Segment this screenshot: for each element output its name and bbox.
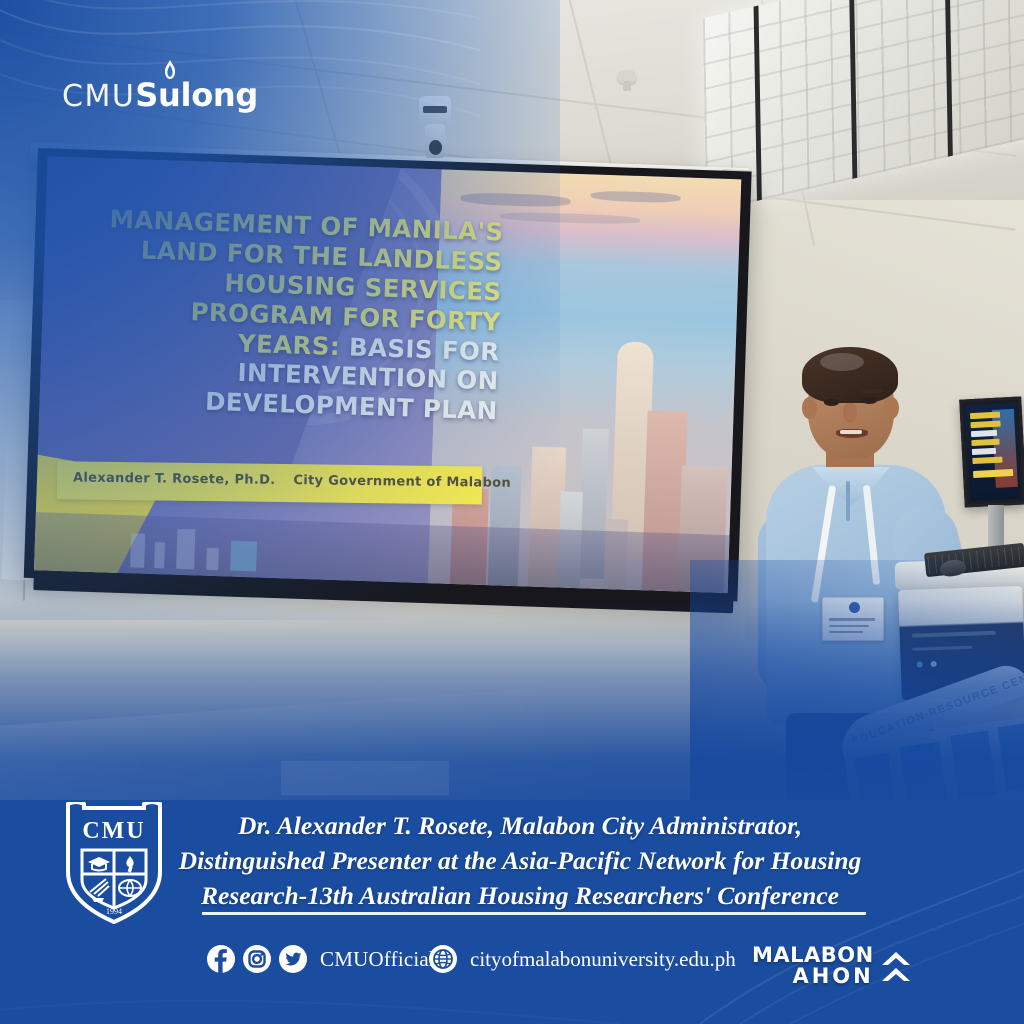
caption-line-3: Research-13th Australian Housing Researc… <box>160 878 880 913</box>
twitter-icon[interactable] <box>278 944 308 974</box>
event-photograph: MANAGEMENT OF MANILA'S LAND FOR THE LAND… <box>0 0 1024 800</box>
globe-icon[interactable] <box>428 944 458 974</box>
globe-icon <box>119 880 141 896</box>
caption-line-2: Distinguished Presenter at the Asia-Paci… <box>160 843 880 878</box>
decorative-rectangle <box>281 761 449 795</box>
double-chevron-up-icon <box>882 952 910 981</box>
cmu-sulong-logo: CMU Sulong <box>62 76 258 118</box>
slide-title: MANAGEMENT OF MANILA'S LAND FOR THE LAND… <box>67 203 504 426</box>
caption-divider <box>202 912 866 915</box>
shield-year: 1994 <box>106 907 122 916</box>
social-media-group[interactable]: CMUOfficial <box>206 944 435 974</box>
malabon-ahon-logo: MALABON AHON <box>752 940 912 992</box>
slide-presenter-name: Alexander T. Rosete, Ph.D. <box>73 470 276 487</box>
website-url: cityofmalabonuniversity.edu.ph <box>470 947 736 972</box>
id-badge <box>822 597 884 641</box>
zipper <box>846 481 850 521</box>
slide-title-years: YEARS: <box>237 328 340 360</box>
shield-monogram: CMU <box>82 818 145 844</box>
malabon-line-2: AHON <box>752 966 874 987</box>
slide-presenter-org: City Government of Malabon <box>293 473 511 491</box>
cmu-shield-logo: CMU 1994 <box>58 802 170 924</box>
slide-title-basis: BASIS FOR <box>340 332 500 366</box>
flame-icon <box>162 60 178 82</box>
social-handle: CMUOfficial <box>320 947 435 972</box>
torch-icon <box>126 856 133 872</box>
education-resource-center-building: EDUCATION RESOURCE CENTER <box>825 637 1024 800</box>
logo-cmu-text: CMU <box>62 79 135 114</box>
computer-monitor <box>959 396 1024 507</box>
smoke-detector-icon <box>618 70 636 84</box>
caption-text: Dr. Alexander T. Rosete, Malabon City Ad… <box>160 808 880 914</box>
projection-screen: MANAGEMENT OF MANILA'S LAND FOR THE LAND… <box>24 148 752 601</box>
website-group[interactable]: cityofmalabonuniversity.edu.ph <box>428 944 736 974</box>
logo-sulong-text: Sulong <box>135 76 258 114</box>
instagram-icon[interactable] <box>242 944 272 974</box>
graduation-cap-icon <box>88 857 110 871</box>
caption-line-1: Dr. Alexander T. Rosete, Malabon City Ad… <box>160 808 880 843</box>
quill-book-icon <box>90 879 109 902</box>
malabon-line-1: MALABON <box>752 945 874 966</box>
facebook-icon[interactable] <box>206 944 236 974</box>
security-camera-icon <box>415 96 455 158</box>
social-media-poster: MANAGEMENT OF MANILA'S LAND FOR THE LAND… <box>0 0 1024 1024</box>
slide-presenter-band: Alexander T. Rosete, Ph.D.City Governmen… <box>57 461 482 504</box>
